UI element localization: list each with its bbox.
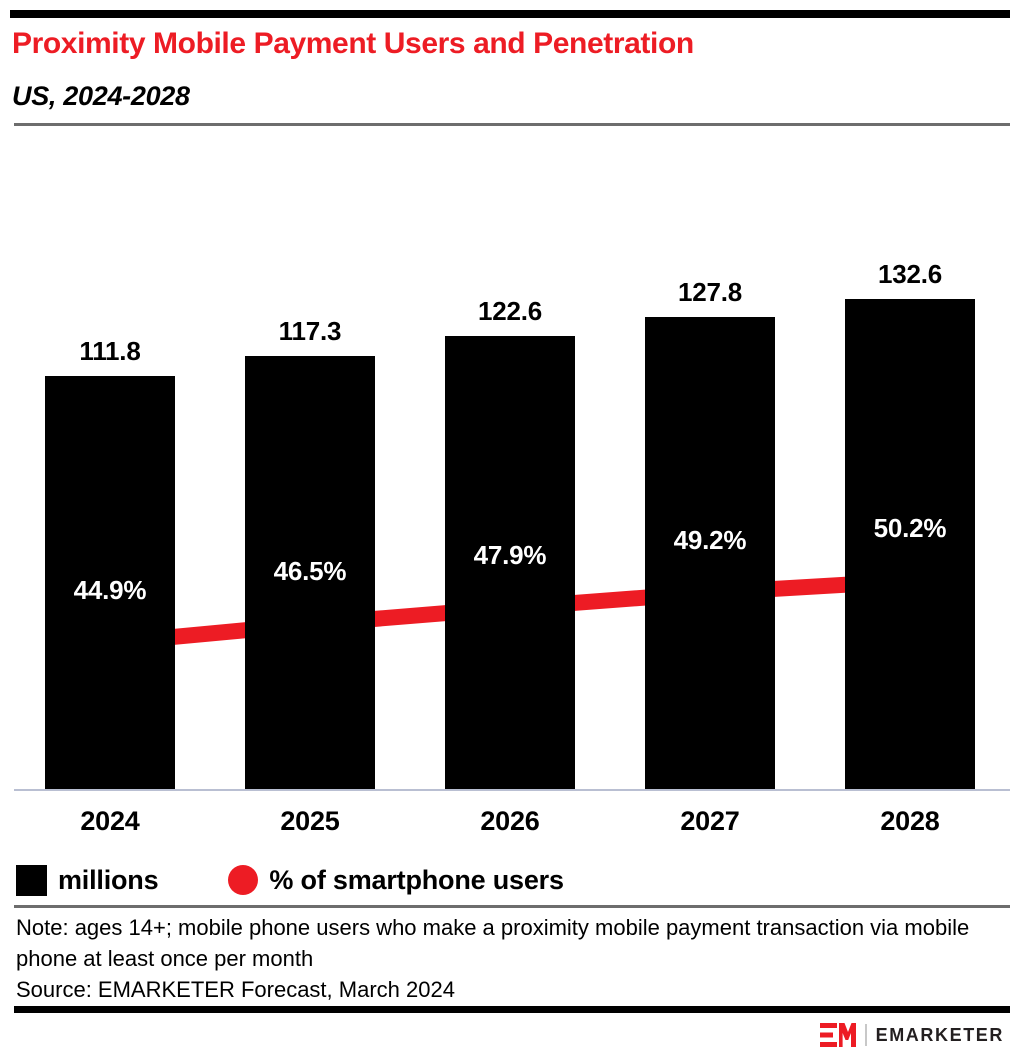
chart-note: Note: ages 14+; mobile phone users who m…	[16, 912, 976, 974]
bar-2028	[845, 299, 975, 790]
x-axis-label-2025: 2025	[210, 806, 410, 837]
em-monogram-icon	[820, 1023, 856, 1047]
x-axis-line	[14, 789, 1010, 791]
bar-value-label-2025: 117.3	[220, 316, 400, 347]
chart-legend: millions % of smartphone users	[16, 860, 564, 900]
legend-item-penetration: % of smartphone users	[228, 865, 563, 896]
circle-swatch-icon	[228, 865, 258, 895]
legend-label-millions: millions	[58, 865, 158, 896]
chart-source: Source: EMARKETER Forecast, March 2024	[16, 974, 455, 1005]
pct-label-2026: 47.9%	[420, 540, 600, 571]
pct-label-2027: 49.2%	[620, 525, 800, 556]
bottom-rule	[14, 1006, 1010, 1013]
x-axis-label-2028: 2028	[810, 806, 1010, 837]
x-axis-label-2027: 2027	[610, 806, 810, 837]
bar-value-label-2026: 122.6	[420, 296, 600, 327]
chart-page: Proximity Mobile Payment Users and Penet…	[0, 0, 1020, 1054]
pct-label-2028: 50.2%	[820, 513, 1000, 544]
x-axis-label-2024: 2024	[10, 806, 210, 837]
emarketer-logo: EMARKETER	[820, 1022, 1004, 1048]
pct-label-2024: 44.9%	[20, 575, 200, 606]
brand-name: EMARKETER	[876, 1025, 1004, 1046]
x-axis-label-2026: 2026	[410, 806, 610, 837]
square-swatch-icon	[16, 865, 47, 896]
legend-label-penetration: % of smartphone users	[269, 865, 563, 896]
brand-divider	[865, 1024, 867, 1046]
bar-value-label-2027: 127.8	[620, 277, 800, 308]
legend-divider	[14, 905, 1010, 908]
pct-label-2025: 46.5%	[220, 556, 400, 587]
legend-item-millions: millions	[16, 865, 158, 896]
bar-value-label-2028: 132.6	[820, 259, 1000, 290]
bar-value-label-2024: 111.8	[20, 336, 200, 367]
